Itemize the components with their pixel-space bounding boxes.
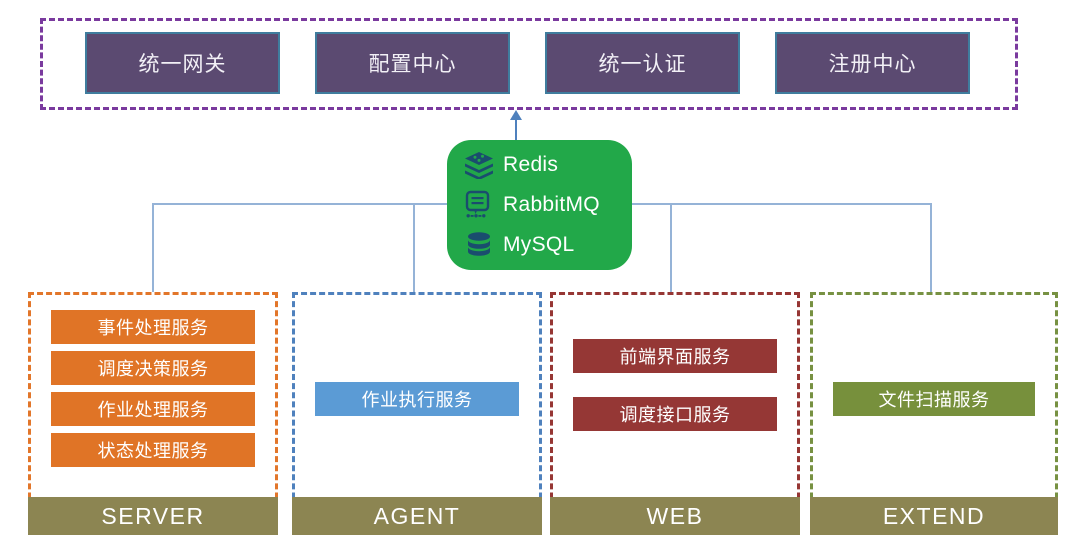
connector-vertical-extend xyxy=(930,203,932,292)
group-name: SERVER xyxy=(101,503,204,530)
middleware-row-mysql: MySQL xyxy=(461,226,632,264)
service-label: 文件扫描服务 xyxy=(879,386,990,412)
arrow-head-to-platform xyxy=(510,110,522,120)
connector-horizontal-left xyxy=(152,203,447,205)
service-label: 事件处理服务 xyxy=(98,314,209,340)
group-label-extend: EXTEND xyxy=(810,497,1058,535)
group-label-web: WEB xyxy=(550,497,800,535)
middleware-row-redis: Redis xyxy=(461,146,632,184)
platform-box-registry[interactable]: 注册中心 xyxy=(775,32,970,94)
group-server: 事件处理服务 调度决策服务 作业处理服务 状态处理服务 SERVER xyxy=(28,292,278,535)
service-label: 作业执行服务 xyxy=(362,386,473,412)
connector-vertical-web xyxy=(670,203,672,292)
platform-box-label: 配置中心 xyxy=(369,48,457,78)
service-box[interactable]: 事件处理服务 xyxy=(51,310,255,344)
platform-box-auth[interactable]: 统一认证 xyxy=(545,32,740,94)
service-box[interactable]: 状态处理服务 xyxy=(51,433,255,467)
database-icon xyxy=(461,228,497,262)
service-box[interactable]: 文件扫描服务 xyxy=(833,382,1035,416)
group-extend: 文件扫描服务 EXTEND xyxy=(810,292,1058,535)
middleware-label-mysql: MySQL xyxy=(503,233,575,257)
connector-horizontal-right xyxy=(632,203,930,205)
message-queue-icon xyxy=(461,188,497,222)
group-agent: 作业执行服务 AGENT xyxy=(292,292,542,535)
middleware-row-rabbitmq: RabbitMQ xyxy=(461,186,632,224)
service-box[interactable]: 前端界面服务 xyxy=(573,339,777,373)
architecture-diagram: 统一网关 配置中心 统一认证 注册中心 xyxy=(0,0,1080,545)
service-label: 作业处理服务 xyxy=(98,396,209,422)
service-box[interactable]: 作业执行服务 xyxy=(315,382,519,416)
service-box[interactable]: 调度接口服务 xyxy=(573,397,777,431)
middleware-label-rabbitmq: RabbitMQ xyxy=(503,193,600,217)
platform-box-label: 统一网关 xyxy=(139,48,227,78)
layers-icon xyxy=(461,148,497,182)
group-name: AGENT xyxy=(374,503,461,530)
connector-vertical-agent xyxy=(413,203,415,292)
middleware-label-redis: Redis xyxy=(503,153,558,177)
group-label-server: SERVER xyxy=(28,497,278,535)
platform-box-gateway[interactable]: 统一网关 xyxy=(85,32,280,94)
service-box[interactable]: 调度决策服务 xyxy=(51,351,255,385)
connector-vertical-server xyxy=(152,203,154,292)
platform-box-label: 注册中心 xyxy=(829,48,917,78)
group-name: EXTEND xyxy=(883,503,985,530)
platform-box-label: 统一认证 xyxy=(599,48,687,78)
service-box[interactable]: 作业处理服务 xyxy=(51,392,255,426)
group-web: 前端界面服务 调度接口服务 WEB xyxy=(550,292,800,535)
group-name: WEB xyxy=(647,503,704,530)
group-label-agent: AGENT xyxy=(292,497,542,535)
middleware-card: Redis RabbitMQ xyxy=(447,140,632,270)
service-label: 调度接口服务 xyxy=(620,401,731,427)
service-label: 前端界面服务 xyxy=(620,343,731,369)
service-label: 调度决策服务 xyxy=(98,355,209,381)
service-label: 状态处理服务 xyxy=(98,437,209,463)
platform-box-config-center[interactable]: 配置中心 xyxy=(315,32,510,94)
